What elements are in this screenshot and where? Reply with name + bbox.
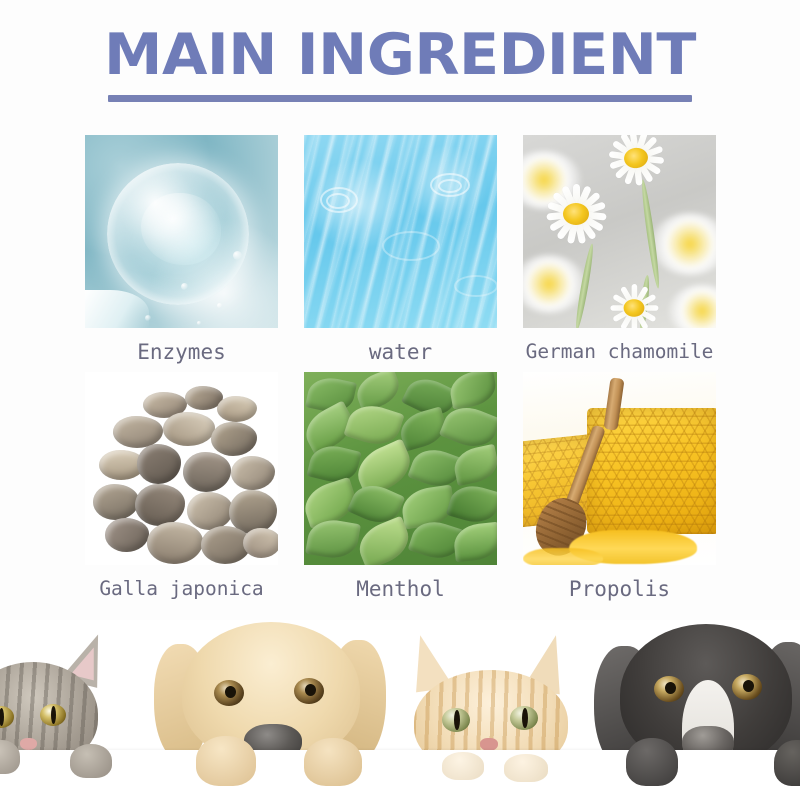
title-underline-rule xyxy=(108,95,692,102)
ingredient-label: Enzymes xyxy=(85,328,278,364)
ingredient-label: Propolis xyxy=(523,565,716,601)
ingredient-card-german-chamomile[interactable]: German chamomile xyxy=(523,135,716,364)
ingredient-card-water[interactable]: water xyxy=(304,135,497,364)
page-title: MAIN INGREDIENT xyxy=(0,26,800,86)
chamomile-image xyxy=(523,135,716,328)
ingredient-label: Galla japonica xyxy=(85,565,278,600)
main-ingredient-poster: MAIN INGREDIENT Enzymes xyxy=(0,0,800,800)
ingredient-card-menthol[interactable]: Menthol xyxy=(304,372,497,601)
orange-tabby-cat xyxy=(408,634,588,764)
ingredient-label: water xyxy=(304,328,497,364)
pets-band xyxy=(0,620,800,800)
water-image xyxy=(304,135,497,328)
white-panel xyxy=(0,750,800,800)
ingredient-card-propolis[interactable]: Propolis xyxy=(523,372,716,601)
ingredient-card-enzymes[interactable]: Enzymes xyxy=(85,135,278,364)
ingredient-label: Menthol xyxy=(304,565,497,601)
menthol-mint-leaves-image xyxy=(304,372,497,565)
ingredient-card-galla-japonica[interactable]: Galla japonica xyxy=(85,372,278,601)
gray-tabby-cat xyxy=(0,628,158,768)
ingredient-grid: Enzymes water xyxy=(85,135,717,601)
galla-japonica-image xyxy=(85,372,278,565)
title-block: MAIN INGREDIENT xyxy=(0,26,800,102)
enzymes-bubble-image xyxy=(85,135,278,328)
propolis-honeycomb-image xyxy=(523,372,716,565)
ingredient-label: German chamomile xyxy=(523,328,716,363)
